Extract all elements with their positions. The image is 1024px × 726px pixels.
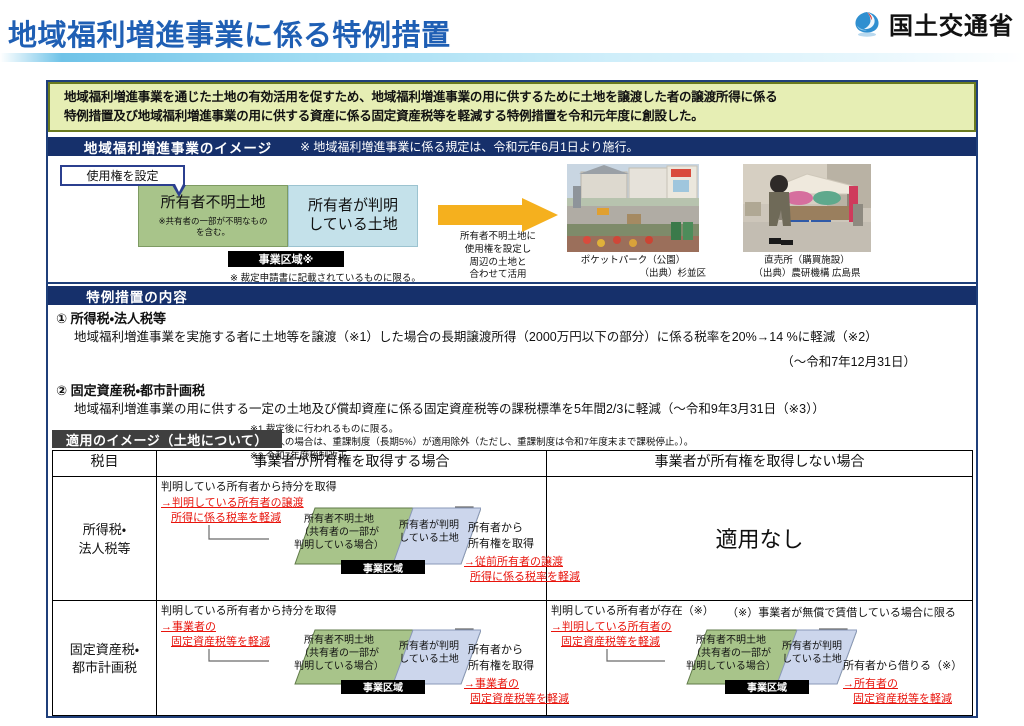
land-known-title-2: している土地 [308, 216, 398, 235]
page-title: 地域福利増進事業に係る特例措置 [8, 12, 451, 54]
row2-na-known-label: 所有者が判明 している土地 [777, 640, 847, 666]
land-known-title-1: 所有者が判明 [308, 197, 398, 216]
summary-box: 地域福利増進事業を通じた土地の有効活用を促すため、地域福利増進事業の用に供するた… [48, 82, 976, 132]
row2-na-right-red-2: 固定資産税等を軽減 [853, 692, 952, 707]
row2-right-line2: 所有権を取得 [468, 659, 534, 674]
apply-table-title: 適用のイメージ（土地について） [52, 430, 282, 448]
row1-unknown-label: 所有者不明土地 （共有者の一部が 判明している場合） [284, 513, 394, 552]
row1-acquire-cell: 判明している所有者から持分を取得 →判明している所有者の譲渡 所得に係る税率を軽… [157, 477, 547, 601]
summary-line-2: 特例措置及び地域福利増進事業の用に供する資産に係る固定資産税等を軽減する特例措置… [64, 107, 960, 126]
row2-na-known-label-2: している土地 [777, 653, 847, 666]
image-section-note: ※ 地域福利増進事業に係る規定は、令和元年6月1日より施行。 [300, 137, 639, 156]
table-row: 所得税・ 法人税等 判明している所有者から持分を取得 →判明している所有者の譲渡… [53, 477, 973, 601]
farm-stand-photo [743, 164, 871, 252]
mlit-swirl-logo-icon [852, 9, 882, 39]
callout-tail-icon [172, 185, 186, 197]
row2-right-line1: 所有者から [468, 643, 523, 658]
row1-tax-line1: 所得税・ [53, 521, 156, 540]
row1-known-label-1: 所有者が判明 [393, 519, 465, 532]
row1-known-label: 所有者が判明 している土地 [393, 519, 465, 545]
ministry-name: 国土交通省 [889, 6, 1014, 41]
measure-1-text: 地域福利増進事業を実施する者に土地等を譲渡（※1）した場合の長期譲渡所得（200… [74, 328, 974, 347]
row2-known-label: 所有者が判明 している土地 [393, 640, 465, 666]
row2-known-label-1: 所有者が判明 [393, 640, 465, 653]
image-section-title: 地域福利増進事業のイメージ [62, 137, 294, 156]
row1-right-line1: 所有者から [468, 521, 523, 536]
summary-line-1: 地域福利増進事業を通じた土地の有効活用を促すため、地域福利増進事業の用に供するた… [64, 88, 960, 107]
row2-na-right-line1: 所有者から借りる（※） [843, 659, 962, 674]
row2-tax-label: 固定資産税・ 都市計画税 [53, 600, 157, 715]
farm-stand-caption-2: （出典）農研機構 広島県 [736, 268, 878, 281]
pocket-park-caption-1: ポケットパーク（公園） [560, 255, 706, 268]
measure-footnote-2: ※2 法人の場合は、重課制度（長期5%）が適用除外（ただし、重課制度は令和7年度… [250, 436, 974, 450]
row1-right-red-2: 所得に係る税率を軽減 [470, 570, 580, 585]
row2-tax-line2: 都市計画税 [53, 659, 156, 678]
slide-page: 地域福利増進事業に係る特例措置 国土交通省 地域福利増進事業を通じた土地の有効活… [0, 0, 1024, 726]
col-header-not-acquire: 事業者が所有権を取得しない場合 [547, 451, 973, 477]
row2-na-unknown-label-2: （共有者の一部が [676, 647, 786, 660]
row2-unknown-label-1: 所有者不明土地 [284, 634, 394, 647]
row1-not-acquire-cell: 適用なし [547, 477, 973, 601]
measure-2-head: ② 固定資産税・都市計画税 [56, 380, 974, 399]
col-header-acquire: 事業者が所有権を取得する場合 [157, 451, 547, 477]
row1-not-applicable: 適用なし [547, 477, 972, 600]
measure-1-period: （～令和7年12月31日） [50, 351, 916, 370]
row2-na-known-label-1: 所有者が判明 [777, 640, 847, 653]
farm-stand-caption: 直売所（購買施設） （出典）農研機構 広島県 [736, 255, 878, 281]
row1-unknown-label-1: 所有者不明土地 [284, 513, 394, 526]
row2-tax-line1: 固定資産税・ [53, 641, 156, 660]
row2-unknown-label: 所有者不明土地 （共有者の一部が 判明している場合） [284, 634, 394, 673]
row1-right-line2: 所有権を取得 [468, 537, 534, 552]
table-row: 固定資産税・ 都市計画税 判明している所有者から持分を取得 →事業者の 固定資産… [53, 600, 973, 715]
col-header-tax: 税目 [53, 451, 157, 477]
row2-right-red-1: →事業者の [464, 677, 519, 692]
land-unknown-sub-1: ※共有者の一部が不明なもの [158, 216, 267, 227]
land-unknown-sub-2: を含む。 [158, 227, 267, 238]
arrow-caption-3: 周辺の土地と [440, 257, 556, 270]
row2-na-unknown-label: 所有者不明土地 （共有者の一部が 判明している場合） [676, 634, 786, 673]
row1-area-tag: 事業区域 [341, 560, 425, 574]
pocket-park-caption: ポケットパーク（公園） （出典）杉並区 [560, 255, 706, 281]
row1-right-red-1: →従前所有者の譲渡 [464, 555, 563, 570]
row2-area-tag: 事業区域 [341, 680, 425, 694]
row1-tax-label: 所得税・ 法人税等 [53, 477, 157, 601]
farm-stand-caption-1: 直売所（購買施設） [736, 255, 878, 268]
row1-unknown-label-2: （共有者の一部が [284, 526, 394, 539]
apply-table: 税目 事業者が所有権を取得する場合 事業者が所有権を取得しない場合 所得税・ 法… [52, 450, 973, 716]
row2-acquire-cell: 判明している所有者から持分を取得 →事業者の 固定資産税等を軽減 所有 [157, 600, 547, 715]
land-known-owner-block: 所有者が判明 している土地 [288, 185, 418, 247]
row2-na-area-tag: 事業区域 [725, 680, 809, 694]
measure-1-head: ① 所得税・法人税等 [56, 308, 974, 327]
usage-right-callout: 使用権を設定 [60, 165, 185, 186]
process-arrow-caption: 所有者不明土地に 使用権を設定し 周辺の土地と 合わせて活用 [440, 231, 556, 282]
page-header: 地域福利増進事業に係る特例措置 国土交通省 [0, 0, 1024, 62]
row2-not-acquire-cell: 判明している所有者が存在（※） →判明している所有者の 固定資産税等を軽減 （※… [547, 600, 973, 715]
arrow-caption-4: 合わせて活用 [440, 269, 556, 282]
header-gradient-rule [0, 53, 1024, 62]
land-unknown-sub: ※共有者の一部が不明なもの を含む。 [158, 216, 267, 238]
row2-na-unknown-label-1: 所有者不明土地 [676, 634, 786, 647]
row2-na-unknown-label-3: 判明している場合） [676, 660, 786, 673]
row1-unknown-label-3: 判明している場合） [284, 539, 394, 552]
usage-right-callout-label: 使用権を設定 [86, 167, 158, 184]
row1-known-label-2: している土地 [393, 532, 465, 545]
row2-known-label-2: している土地 [393, 653, 465, 666]
measure-footnote-1: ※1 裁定後に行われるものに限る。 [250, 423, 974, 437]
row2-na-right-red-1: →所有者の [843, 677, 898, 692]
project-area-tag: 事業区域※ [228, 251, 344, 267]
project-area-note: ※ 裁定申請書に記載されているものに限る。 [230, 270, 421, 284]
row2-unknown-label-3: 判明している場合） [284, 660, 394, 673]
arrow-caption-1: 所有者不明土地に [440, 231, 556, 244]
pocket-park-photo [567, 164, 699, 252]
pocket-park-caption-2: （出典）杉並区 [560, 268, 706, 281]
measure-2-text: 地域福利増進事業の用に供する一定の土地及び償却資産に係る固定資産税等の課税標準を… [74, 400, 974, 419]
land-unknown-owner-block: 所有者不明土地 ※共有者の一部が不明なもの を含む。 [138, 185, 288, 247]
arrow-caption-2: 使用権を設定し [440, 244, 556, 257]
table-header-row: 税目 事業者が所有権を取得する場合 事業者が所有権を取得しない場合 [53, 451, 973, 477]
measures-section-title: 特例措置の内容 [62, 286, 212, 305]
row1-tax-line2: 法人税等 [53, 540, 156, 559]
process-arrow-icon [438, 198, 558, 232]
ministry-logo: 国土交通省 [852, 6, 1014, 41]
row2-unknown-label-2: （共有者の一部が [284, 647, 394, 660]
